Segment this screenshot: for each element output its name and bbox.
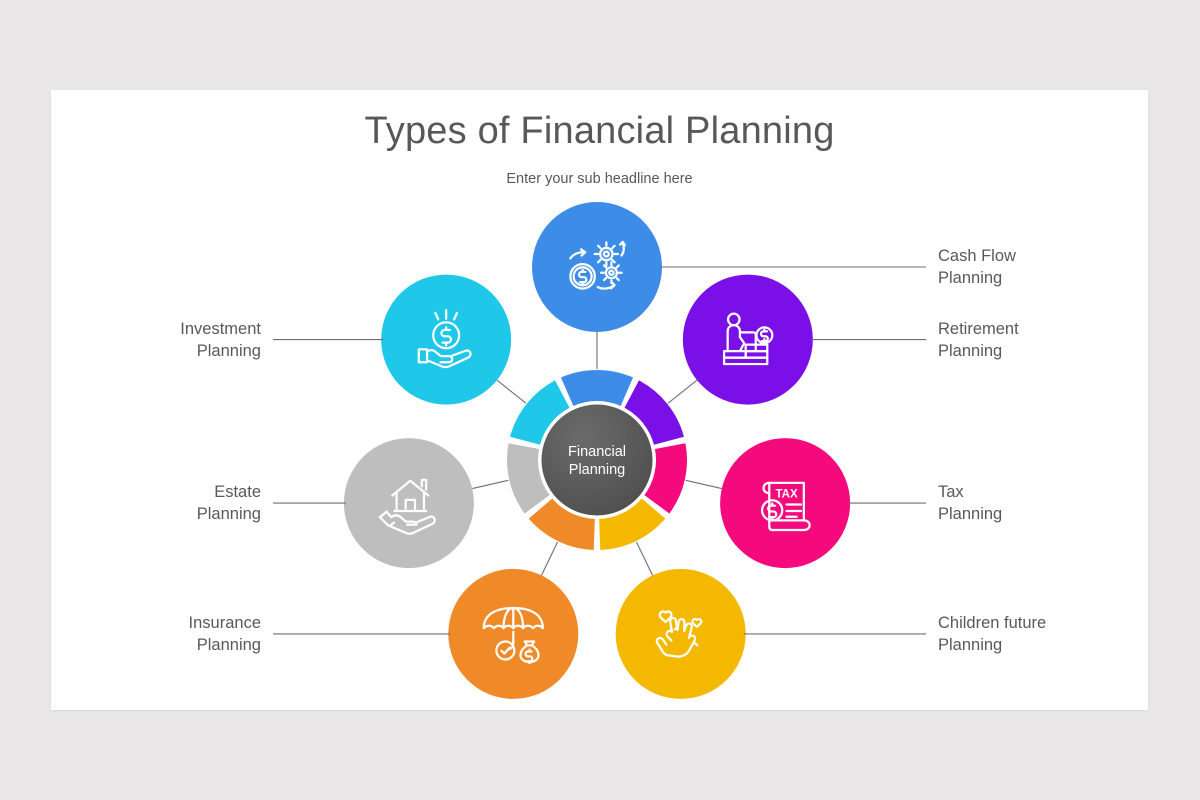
label-cash-flow[interactable]: Cash Flow Planning	[938, 245, 1016, 289]
spoke-investment	[497, 380, 526, 403]
hub-label-line1: Financial	[568, 444, 626, 460]
label-tax[interactable]: Tax Planning	[938, 481, 1002, 525]
bubble-cash-flow[interactable]	[532, 202, 662, 332]
label-investment[interactable]: Investment Planning	[180, 318, 261, 362]
bubble-disc-investment	[381, 275, 511, 405]
label-insurance[interactable]: Insurance Planning	[189, 612, 261, 656]
bubble-investment[interactable]	[381, 275, 511, 405]
bubble-disc-estate	[344, 438, 474, 568]
hub-label-line2: Planning	[569, 462, 625, 478]
bubble-retirement[interactable]	[683, 275, 813, 405]
label-children-future[interactable]: Children future Planning	[938, 612, 1046, 656]
bubble-children-future[interactable]	[616, 569, 746, 699]
bubble-disc-children-future	[616, 569, 746, 699]
wheel-segment-cash-flow[interactable]	[561, 370, 633, 406]
bubble-disc-retirement	[683, 275, 813, 405]
bubble-estate[interactable]	[344, 438, 474, 568]
bubble-tax[interactable]	[720, 438, 850, 568]
bubble-disc-cash-flow	[532, 202, 662, 332]
bubble-disc-tax	[720, 438, 850, 568]
bubble-insurance[interactable]	[448, 569, 578, 699]
spoke-tax	[686, 480, 722, 488]
center-hub[interactable]: Financial Planning	[542, 405, 653, 516]
label-estate[interactable]: Estate Planning	[197, 481, 261, 525]
label-retirement[interactable]: Retirement Planning	[938, 318, 1019, 362]
spoke-estate	[472, 480, 508, 488]
slide-canvas: Types of Financial Planning Enter your s…	[51, 90, 1148, 710]
spoke-insurance	[541, 542, 557, 575]
spoke-children-future	[636, 542, 652, 575]
spoke-retirement	[668, 380, 697, 403]
